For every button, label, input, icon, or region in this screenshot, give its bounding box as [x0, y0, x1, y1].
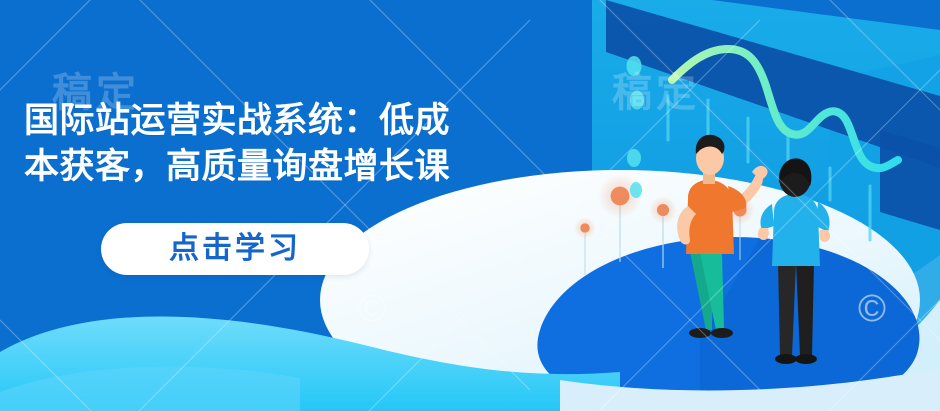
banner-artwork: [0, 0, 940, 411]
headline-line-2: 本获客，高质量询盘增长课: [24, 144, 624, 190]
course-banner: 稿定 稿定 © © 国际站运营实战系统：低成 本获客，高质量询盘增长课 点击学习: [0, 0, 940, 411]
headline-line-1: 国际站运营实战系统：低成: [24, 98, 624, 144]
click-to-learn-button[interactable]: 点击学习: [101, 223, 369, 275]
cta-button-label: 点击学习: [169, 234, 301, 264]
banner-headline: 国际站运营实战系统：低成 本获客，高质量询盘增长课: [24, 98, 624, 190]
